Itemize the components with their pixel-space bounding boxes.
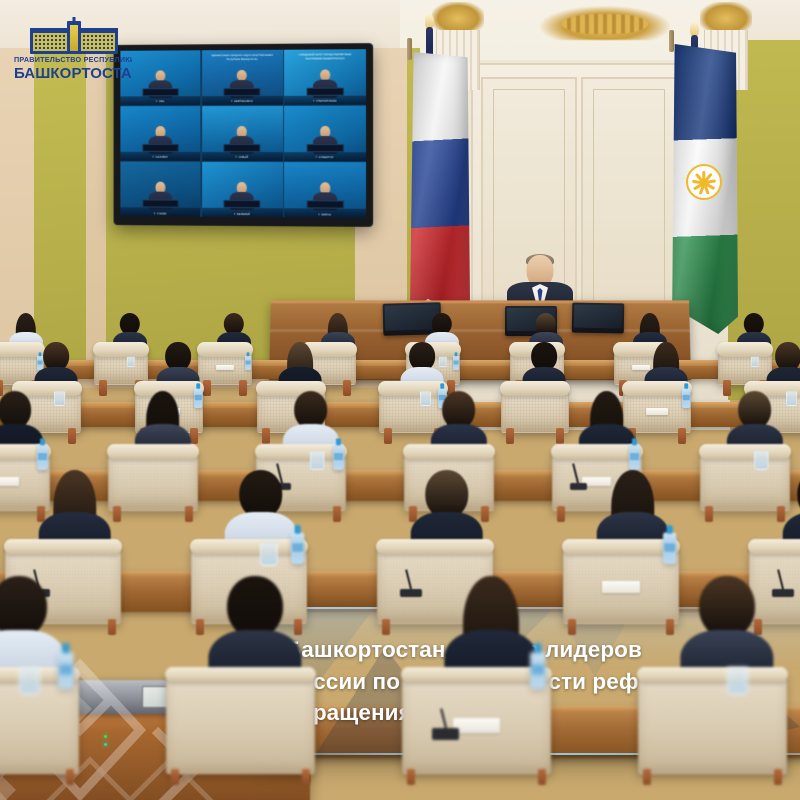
water-bottle bbox=[291, 532, 304, 563]
delegate-microphone bbox=[400, 589, 422, 598]
drinking-glass bbox=[127, 357, 135, 367]
drinking-glass bbox=[420, 392, 431, 407]
audience-chair bbox=[108, 450, 198, 511]
chair-leg bbox=[557, 506, 565, 522]
vc-tile-nameplate: Г. УЧАЛЫ bbox=[152, 212, 167, 216]
vc-participant-monitor bbox=[142, 144, 179, 152]
audience-chair bbox=[638, 673, 787, 774]
press-photo-card: Г. УФААдминистрация городского округа го… bbox=[0, 0, 800, 800]
delegate-microphone bbox=[570, 483, 587, 490]
paper-documents bbox=[453, 718, 501, 733]
government-house-building-icon bbox=[30, 20, 118, 54]
logo-line-1: ПРАВИТЕЛЬСТВО РЕСПУБЛИКИ bbox=[14, 55, 132, 64]
vc-tile-nameplate: Г. УФА bbox=[155, 100, 166, 104]
kurai-flower-icon bbox=[686, 164, 722, 200]
vc-participant-monitor bbox=[223, 88, 260, 96]
flag-pole bbox=[669, 30, 674, 52]
logo-line-2: БАШКОРТОСТАН bbox=[14, 65, 132, 82]
drinking-glass bbox=[260, 543, 278, 566]
chair-leg bbox=[262, 428, 270, 444]
drinking-glass bbox=[751, 357, 759, 367]
chair-leg bbox=[343, 380, 351, 396]
drinking-glass bbox=[310, 451, 325, 470]
chair-leg bbox=[678, 428, 686, 444]
vc-tile-nameplate: Г. БИРСК bbox=[317, 213, 332, 217]
audience-member-head bbox=[0, 576, 47, 639]
chair-leg bbox=[506, 428, 514, 444]
vc-tile-7: Г. УЧАЛЫ bbox=[120, 162, 200, 217]
vc-tile-slide-title: ГОРОДСКОЙ ОКРУГ ГОРОД СТЕРЛИТАМАК РЕСПУБ… bbox=[291, 54, 360, 62]
chair-leg bbox=[705, 506, 713, 522]
water-bottle bbox=[37, 444, 48, 470]
flag-russia bbox=[410, 52, 470, 312]
chair-leg bbox=[384, 428, 392, 444]
chair-leg bbox=[666, 619, 674, 635]
drinking-glass bbox=[19, 667, 40, 695]
government-of-bashkortostan-logo: ПРАВИТЕЛЬСТВО РЕСПУБЛИКИ БАШКОРТОСТАН bbox=[14, 20, 132, 90]
vc-participant-monitor bbox=[142, 88, 179, 96]
audience-chair bbox=[501, 387, 569, 433]
drinking-glass bbox=[54, 392, 65, 407]
chair-leg bbox=[203, 380, 211, 396]
video-conference-wall: Г. УФААдминистрация городского округа го… bbox=[115, 44, 373, 226]
vc-tile-4: Г. САЛАВАТ bbox=[120, 106, 200, 160]
vc-tile-5: Г. СИБАЙ bbox=[202, 106, 283, 161]
presidium-monitor bbox=[572, 303, 625, 334]
flag-cloth bbox=[410, 52, 470, 312]
chair-leg bbox=[113, 506, 121, 522]
chair-leg bbox=[302, 769, 310, 785]
audience-chair bbox=[94, 348, 148, 385]
video-wall-grid: Г. УФААдминистрация городского округа го… bbox=[120, 49, 366, 218]
water-bottle bbox=[333, 444, 344, 470]
vc-tile-8: Г. БЕЛЕБЕЙ bbox=[202, 162, 283, 217]
chair-leg bbox=[382, 619, 390, 635]
chair-leg bbox=[568, 619, 576, 635]
vc-tile-3: ГОРОДСКОЙ ОКРУГ ГОРОД СТЕРЛИТАМАК РЕСПУБ… bbox=[284, 49, 366, 104]
vc-tile-slide-title: Администрация городского округа город Не… bbox=[208, 54, 276, 62]
emblem-column bbox=[67, 21, 81, 54]
water-bottle bbox=[629, 444, 640, 470]
drinking-glass bbox=[727, 667, 748, 695]
delegate-microphone bbox=[432, 728, 460, 739]
status-led-teal bbox=[104, 743, 107, 746]
vc-tile-nameplate: Г. САЛАВАТ bbox=[151, 156, 169, 160]
vc-participant-monitor bbox=[306, 200, 344, 208]
vc-tile-nameplate: Г. НЕФТЕКАМСК bbox=[230, 100, 255, 104]
chair-leg bbox=[333, 506, 341, 522]
paper-documents bbox=[646, 408, 668, 415]
delegate-microphone bbox=[772, 589, 794, 598]
wall-trim-mid bbox=[86, 48, 106, 388]
gold-ornament-center bbox=[540, 6, 670, 40]
audience-chair bbox=[700, 450, 790, 511]
vc-tile-1: Г. УФА bbox=[120, 50, 200, 105]
vc-participant-monitor bbox=[142, 200, 179, 208]
chair-leg bbox=[407, 769, 415, 785]
water-bottle bbox=[530, 651, 546, 688]
paper-documents bbox=[602, 581, 639, 593]
drinking-glass bbox=[754, 451, 769, 470]
vc-participant-monitor bbox=[306, 144, 344, 152]
chair-leg bbox=[66, 769, 74, 785]
water-bottle bbox=[194, 388, 202, 408]
chair-leg bbox=[171, 769, 179, 785]
water-bottle bbox=[245, 356, 251, 370]
gold-capital-right bbox=[700, 2, 752, 32]
vc-tile-9: Г. БИРСК bbox=[284, 162, 366, 217]
water-bottle bbox=[453, 356, 459, 370]
audience-member-head bbox=[227, 576, 283, 639]
chair-leg bbox=[556, 428, 564, 444]
chair-leg bbox=[185, 506, 193, 522]
water-bottle bbox=[58, 651, 74, 688]
vc-participant-monitor bbox=[306, 87, 344, 95]
water-bottle bbox=[682, 388, 690, 408]
chair-leg bbox=[538, 769, 546, 785]
water-bottle bbox=[663, 532, 676, 563]
chair-leg bbox=[108, 619, 116, 635]
audience-chair bbox=[166, 673, 315, 774]
paper-documents bbox=[0, 477, 19, 486]
chair-leg bbox=[196, 619, 204, 635]
chair-leg bbox=[774, 769, 782, 785]
vc-tile-nameplate: Г. КУМЕРТАУ bbox=[315, 156, 336, 160]
vc-tile-2: Администрация городского округа город Не… bbox=[202, 50, 283, 105]
flag-pole bbox=[407, 38, 412, 60]
vc-participant-monitor bbox=[223, 200, 260, 208]
vc-tile-6: Г. КУМЕРТАУ bbox=[284, 106, 366, 161]
vc-tile-nameplate: Г. БЕЛЕБЕЙ bbox=[233, 212, 252, 216]
flag-bashkortostan bbox=[672, 44, 738, 334]
vc-tile-nameplate: Г. СТЕРЛИТАМАК bbox=[312, 100, 339, 104]
chair-leg bbox=[99, 380, 107, 396]
status-led-green bbox=[104, 735, 107, 738]
audience-chair bbox=[718, 348, 772, 385]
vc-tile-nameplate: Г. СИБАЙ bbox=[234, 156, 249, 160]
chair-leg bbox=[239, 380, 247, 396]
drinking-glass bbox=[786, 392, 797, 407]
paper-documents bbox=[216, 365, 233, 371]
vc-participant-monitor bbox=[223, 144, 260, 152]
chair-leg bbox=[190, 428, 198, 444]
chair-leg bbox=[68, 428, 76, 444]
gold-capital-left bbox=[432, 2, 484, 32]
audience-member-head bbox=[699, 576, 755, 639]
chair-leg bbox=[643, 769, 651, 785]
